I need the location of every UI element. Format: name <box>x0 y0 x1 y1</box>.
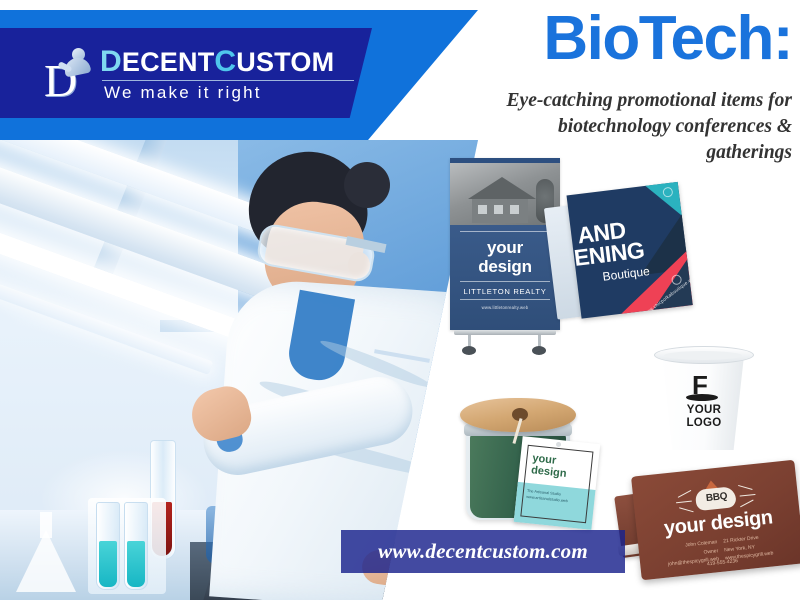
subtitle-line-2: biotechnology conferences & <box>430 114 792 140</box>
business-card-front: BBQ your design John Coleman Owner john@… <box>631 460 800 581</box>
vial-liquid <box>99 541 117 587</box>
tag-hole-icon <box>556 442 561 447</box>
person-with-d-emblem-icon: D <box>44 48 94 102</box>
brand-tagline: We make it right <box>100 83 354 103</box>
website-url-bar[interactable]: www.decentcustom.com <box>341 530 625 573</box>
erlenmeyer-flask <box>16 530 76 592</box>
tag-headline: your design <box>531 453 569 480</box>
rollup-company: LITTLETON REALTY <box>450 287 560 296</box>
cup-logo-text: YOUR LOGO <box>652 404 756 430</box>
brochure-cover: AND ENING Boutique www.chicpolkaboutique… <box>567 182 693 319</box>
brand-name-ustom: USTOM <box>236 47 334 77</box>
logo-divider <box>102 80 354 81</box>
banner-stand-foot <box>532 346 546 355</box>
cup-logo-underline <box>686 394 718 401</box>
rollup-house-photo <box>450 163 560 225</box>
website-url: www.decentcustom.com <box>378 539 588 564</box>
subtitle-line-1: Eye-catching promotional items for <box>430 88 792 114</box>
hair-bun <box>344 162 390 208</box>
bbq-pig-icon: BBQ <box>690 478 741 513</box>
rollup-url: www.littletonrealty.web <box>450 305 560 310</box>
product-coffee-cup[interactable]: F YOUR LOGO <box>652 342 756 454</box>
brand-name-c: C <box>214 45 236 78</box>
vial <box>96 502 120 590</box>
flask-neck <box>40 512 52 538</box>
promotional-banner: D DECENTCUSTOM We make it right BioTech:… <box>0 0 800 600</box>
rollup-headline: your design <box>450 239 560 276</box>
page-title: BioTech: <box>430 8 792 70</box>
product-brochure[interactable]: AND ENING Boutique www.chicpolkaboutique… <box>555 180 710 326</box>
banner-stand-foot <box>462 346 476 355</box>
brand-name-ecent: ECENT <box>122 47 215 77</box>
product-candle-jar[interactable]: your design The Artisanal Studio www.art… <box>454 390 594 530</box>
brand-name-d: D <box>100 45 122 78</box>
hang-tag: your design The Artisanal Studio www.art… <box>514 436 601 530</box>
vial <box>124 502 148 590</box>
product-business-card[interactable]: BBQ your design John Coleman Owner john@… <box>618 462 800 586</box>
person-icon <box>60 48 90 78</box>
brand-name: DECENTCUSTOM <box>100 47 354 77</box>
vial-liquid <box>127 541 145 587</box>
brand-logo[interactable]: D DECENTCUSTOM We make it right <box>44 44 344 106</box>
